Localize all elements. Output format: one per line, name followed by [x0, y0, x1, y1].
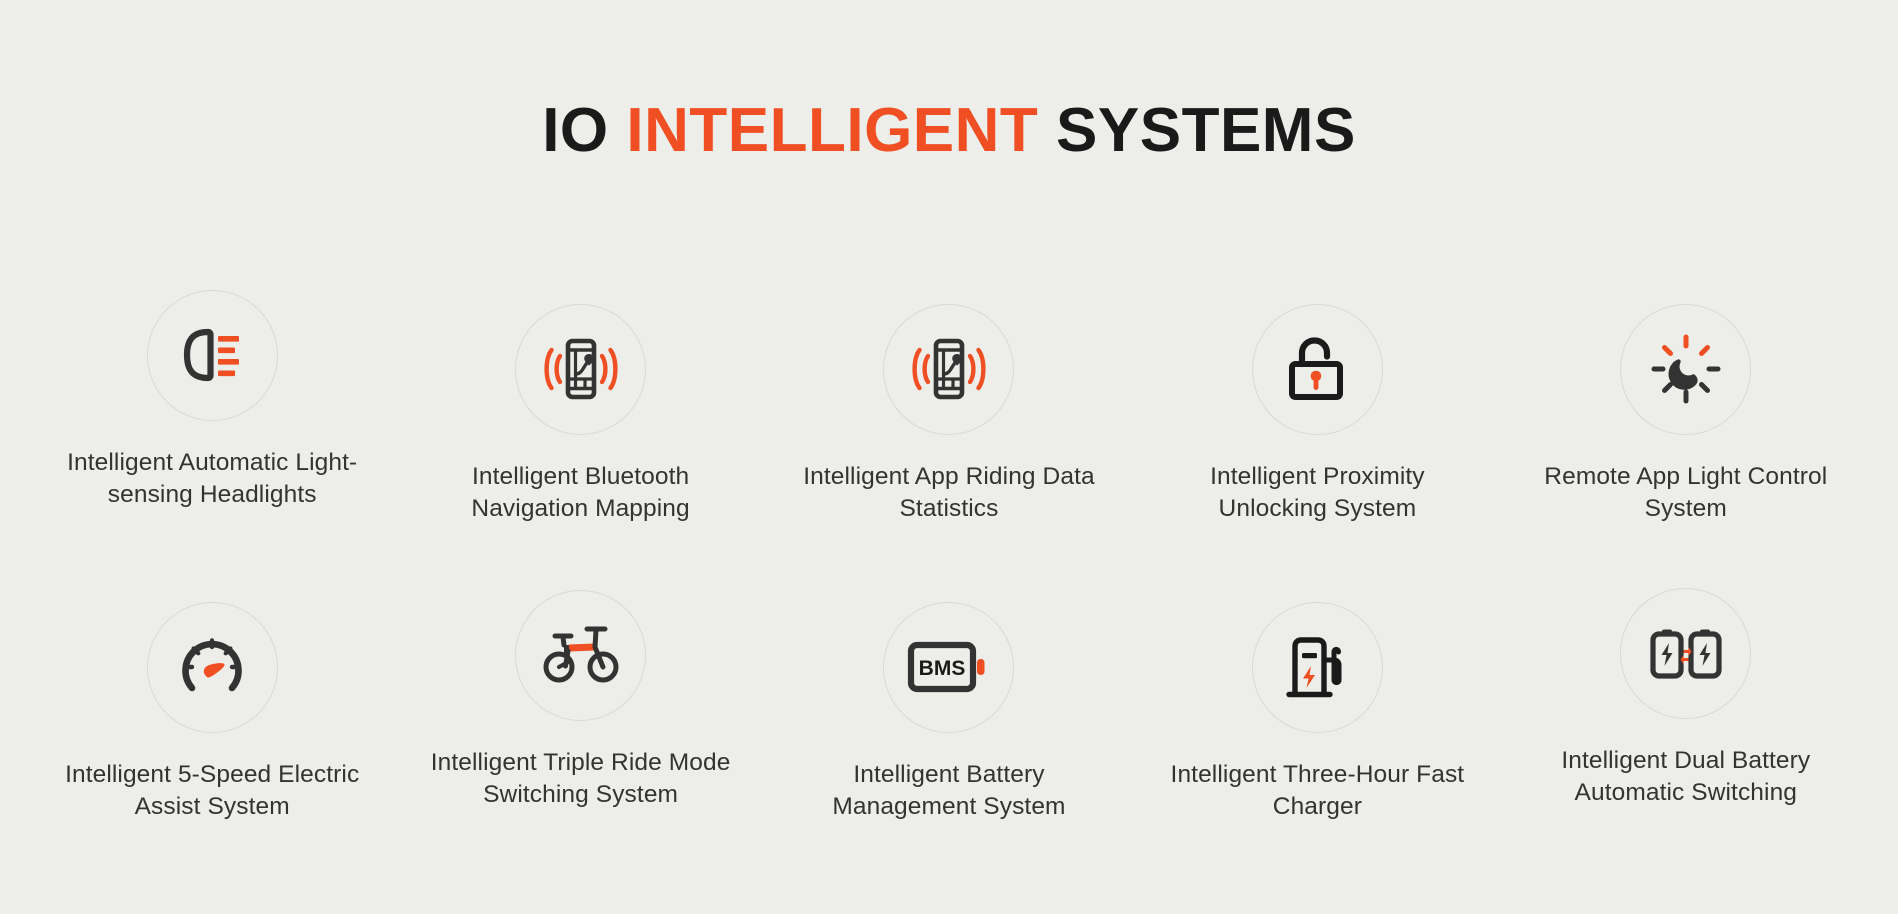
feature-item-dual-battery-switching[interactable]: Intelligent Dual Battery Automatic Switc… — [1502, 602, 1870, 914]
feature-item-bluetooth-navigation[interactable]: Intelligent Bluetooth Navigation Mapping — [396, 290, 764, 602]
feature-caption: Intelligent Battery Management System — [799, 759, 1099, 824]
feature-caption: Intelligent Proximity Unlocking System — [1167, 461, 1467, 526]
feature-item-battery-management[interactable]: BMS Intelligent Battery Management Syste… — [765, 602, 1133, 914]
feature-caption: Intelligent Bluetooth Navigation Mapping — [431, 461, 731, 526]
feature-item-remote-light-control[interactable]: Remote App Light Control System — [1502, 290, 1870, 602]
feature-caption: Intelligent 5-Speed Electric Assist Syst… — [62, 759, 362, 824]
feature-item-app-riding-data[interactable]: Intelligent App Riding Data Statistics — [765, 290, 1133, 602]
feature-item-triple-ride-mode[interactable]: Intelligent Triple Ride Mode Switching S… — [396, 602, 764, 914]
dual-battery-swap-icon — [1642, 617, 1730, 689]
feature-item-fast-charger[interactable]: Intelligent Three-Hour Fast Charger — [1133, 602, 1501, 914]
speedometer-icon — [175, 630, 249, 704]
sun-moon-icon — [1649, 332, 1723, 406]
bms-battery-icon: BMS — [905, 637, 993, 697]
feature-item-proximity-unlock[interactable]: Intelligent Proximity Unlocking System — [1133, 290, 1501, 602]
phone-navigation-icon — [542, 332, 620, 406]
feature-caption: Remote App Light Control System — [1536, 461, 1836, 526]
icon-circle — [883, 304, 1014, 435]
icon-circle — [147, 290, 278, 421]
icon-circle — [515, 590, 646, 721]
icon-circle: BMS — [883, 602, 1014, 733]
icon-circle — [147, 602, 278, 733]
page-title: IO INTELLIGENT SYSTEMS — [0, 42, 1898, 162]
charging-station-icon — [1279, 630, 1355, 704]
icon-circle — [515, 304, 646, 435]
bms-label: BMS — [919, 657, 966, 680]
headlight-icon — [175, 318, 249, 392]
feature-caption: Intelligent Triple Ride Mode Switching S… — [431, 747, 731, 812]
page-title-part1: IO — [542, 96, 626, 165]
feature-item-headlight[interactable]: Intelligent Automatic Light-sensing Head… — [28, 290, 396, 602]
feature-caption: Intelligent Three-Hour Fast Charger — [1167, 759, 1467, 824]
page-title-part2: SYSTEMS — [1038, 96, 1356, 165]
page-title-highlight: INTELLIGENT — [626, 96, 1038, 165]
open-padlock-icon — [1282, 332, 1352, 406]
icon-circle — [1620, 588, 1751, 719]
icon-circle — [1620, 304, 1751, 435]
icon-circle — [1252, 602, 1383, 733]
feature-caption: Intelligent Dual Battery Automatic Switc… — [1536, 745, 1836, 810]
feature-item-5-speed-assist[interactable]: Intelligent 5-Speed Electric Assist Syst… — [28, 602, 396, 914]
folding-bicycle-icon — [538, 618, 624, 692]
icon-circle — [1252, 304, 1383, 435]
feature-caption: Intelligent App Riding Data Statistics — [799, 461, 1099, 526]
phone-app-data-icon — [910, 332, 988, 406]
intelligent-systems-page: IO INTELLIGENT SYSTEMS Intelligent Autom… — [0, 42, 1898, 912]
feature-caption: Intelligent Automatic Light-sensing Head… — [62, 447, 362, 512]
feature-grid: Intelligent Automatic Light-sensing Head… — [0, 290, 1898, 914]
